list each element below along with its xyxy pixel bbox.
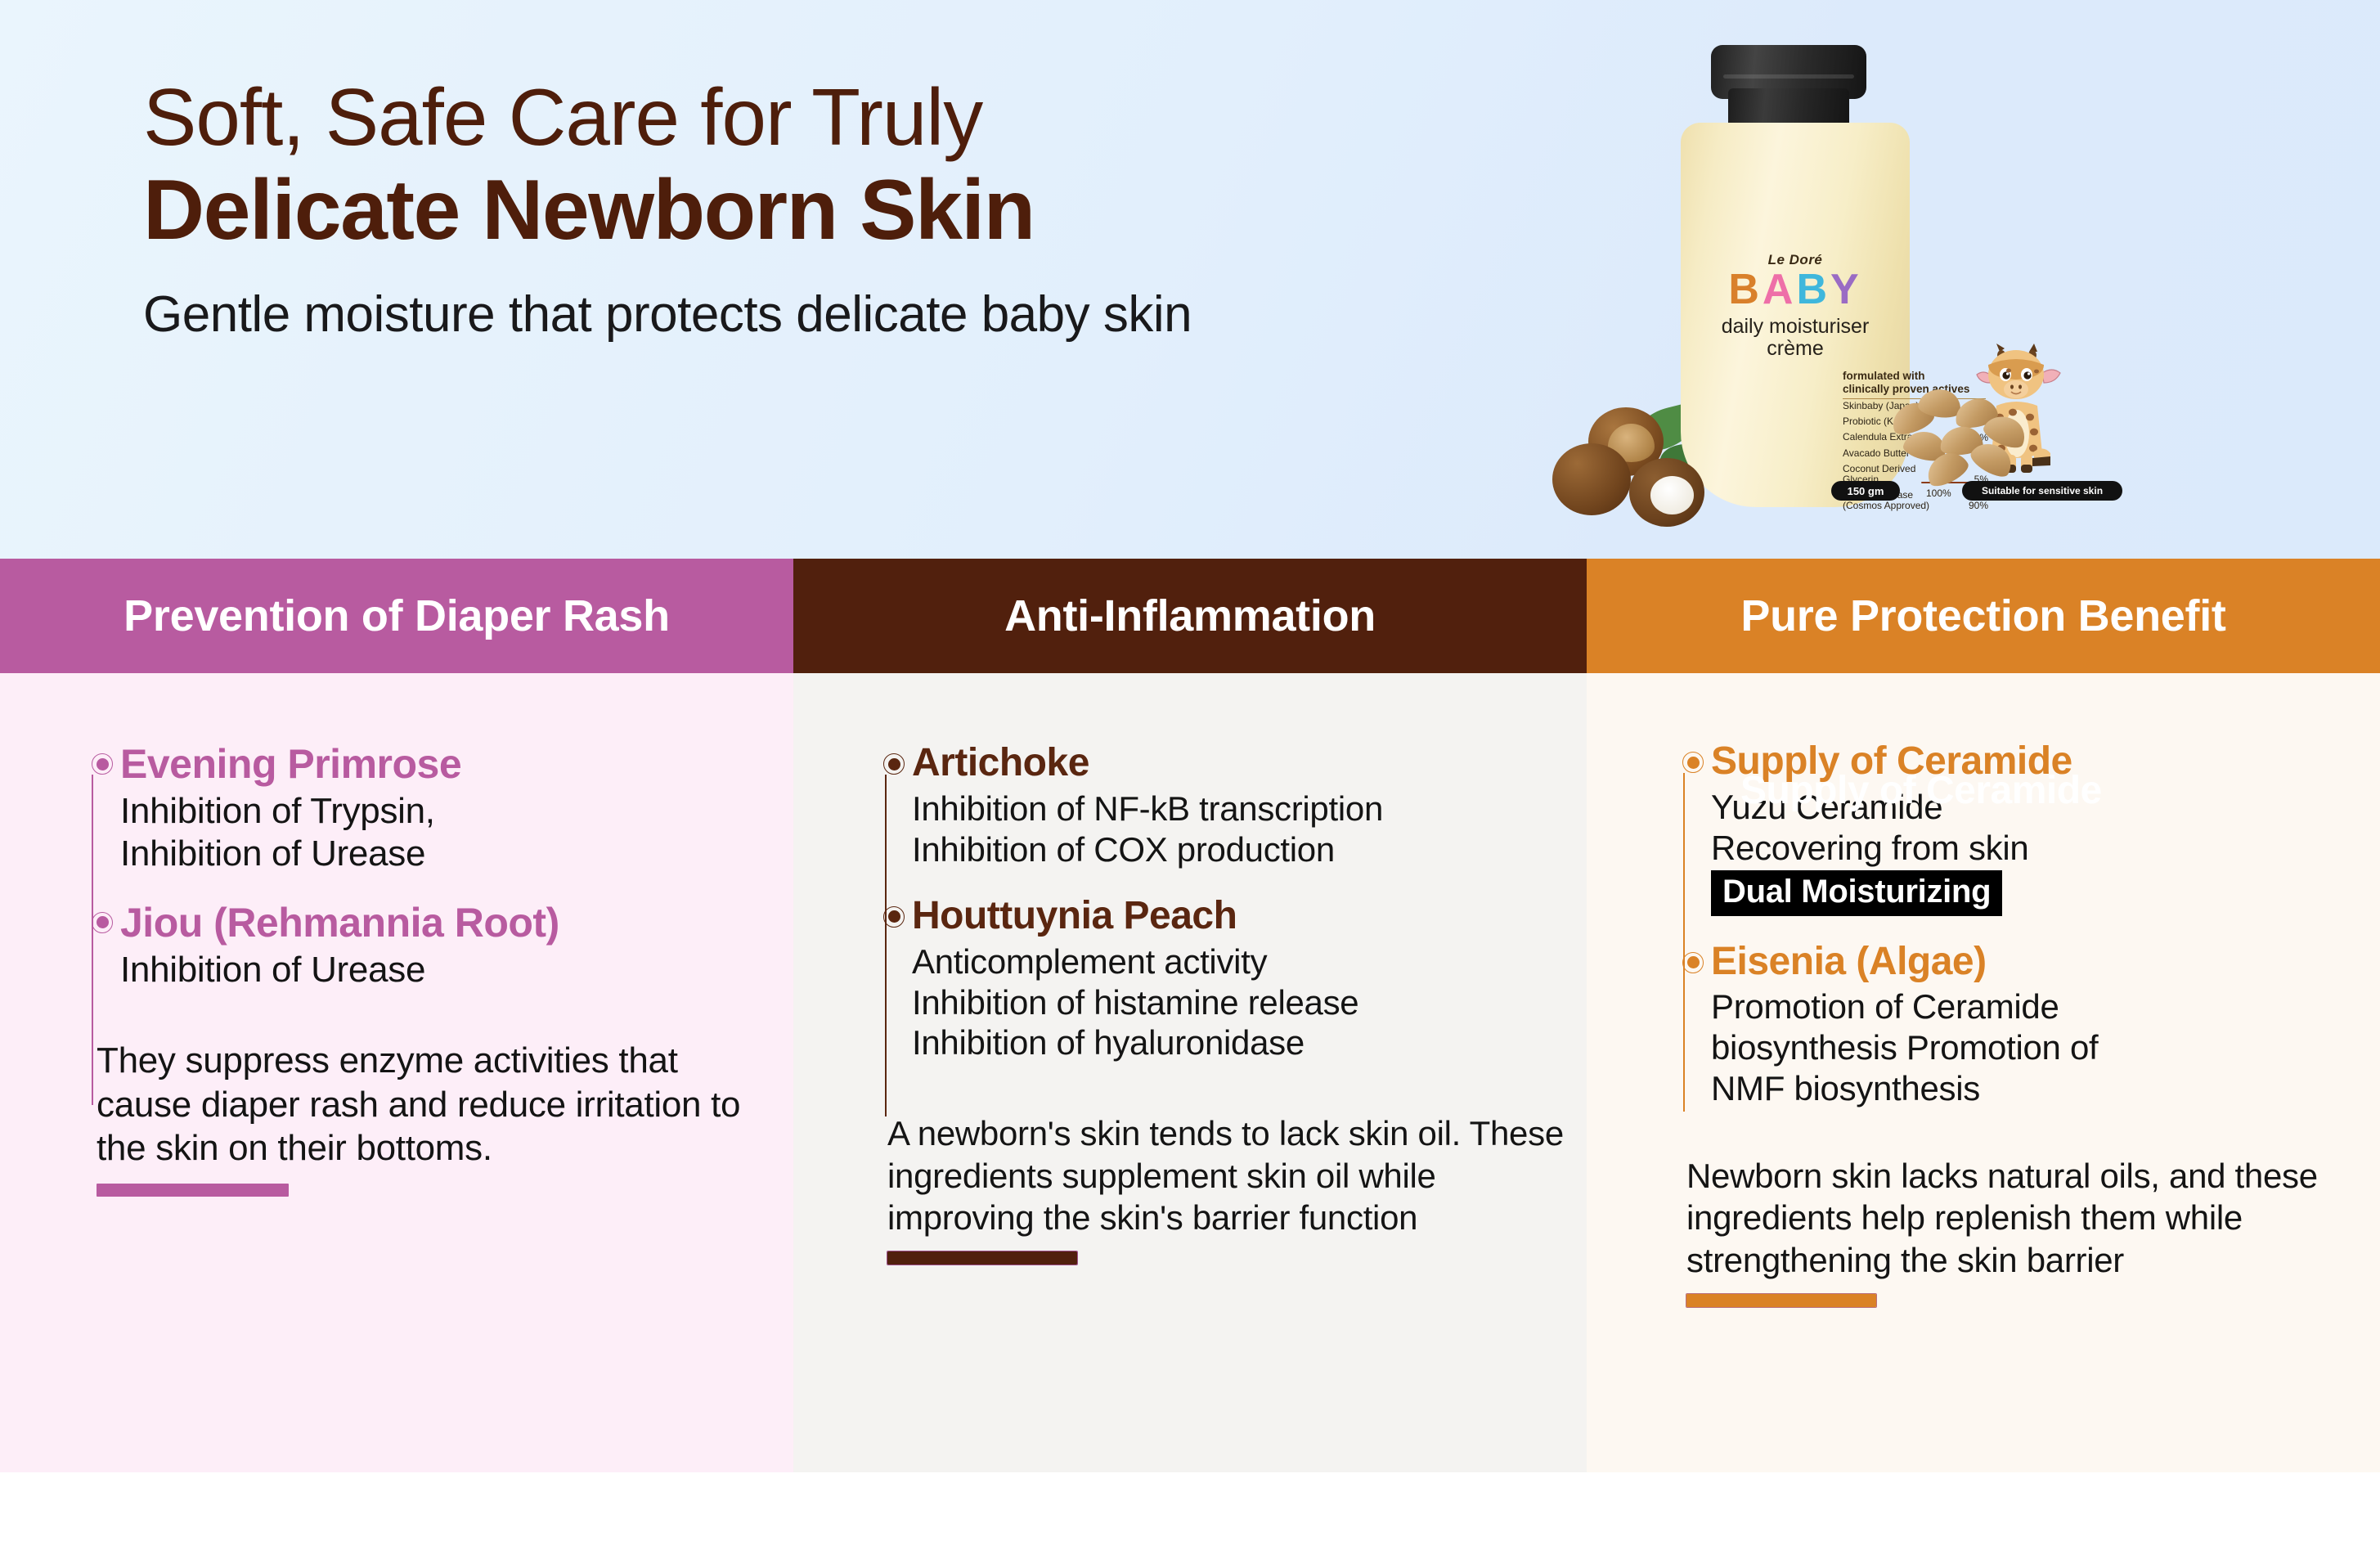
ingredient-entry-list: Evening Primrose Inhibition of Trypsin, … — [120, 742, 775, 991]
bullet-icon — [883, 906, 905, 928]
timeline-line — [92, 775, 93, 1105]
product-subtitle-line-2: crème — [1681, 338, 1910, 360]
ingredient-entry-title: Eisenia (Algae) — [1711, 941, 2365, 984]
bullet-icon — [1682, 952, 1704, 973]
ingredient-entry-details: Yuzu Ceramide Recovering from skin Dual … — [1711, 787, 2365, 916]
ingredient-entry-details: Anticomplement activity Inhibition of hi… — [912, 941, 1566, 1064]
hero-banner: Soft, Safe Care for Truly Delicate Newbo… — [0, 0, 2380, 559]
ingredient-entry-line: Inhibition of Trypsin, — [120, 790, 775, 833]
product-subtitle: daily moisturiser crème — [1681, 316, 1910, 360]
ingredient-entry-line: Inhibition of NF-kB transcription — [912, 788, 1566, 829]
ingredient-entry-title: Houttuynia Peach — [912, 895, 1566, 938]
column-summary-text: Newborn skin lacks natural oils, and the… — [1686, 1155, 2341, 1281]
bullet-icon — [883, 753, 905, 775]
bullet-icon — [1682, 752, 1704, 773]
timeline-line — [885, 775, 887, 1116]
ingredient-entry-line: Inhibition of histamine release — [912, 982, 1566, 1023]
shea-butter-nut-icon — [1629, 458, 1704, 527]
benefit-column-diaper-rash: Prevention of Diaper Rash Evening Primro… — [0, 559, 793, 1472]
column-summary-text: A newborn's skin tends to lack skin oil.… — [887, 1112, 1566, 1238]
baby-letter-b1: B — [1728, 268, 1763, 311]
column-header-pure-protection: Pure Protection Benefit — [1587, 559, 2380, 673]
column-summary-block: A newborn's skin tends to lack skin oil.… — [887, 1112, 1566, 1265]
baby-letter-b2: B — [1796, 268, 1830, 311]
ingredient-entry-details: Inhibition of NF-kB transcription Inhibi… — [912, 788, 1566, 870]
ingredient-entry-line: NMF biosynthesis — [1711, 1068, 2365, 1109]
column-body-pure-protection: Supply of Ceramide Supply of Ceramide Yu… — [1587, 740, 2380, 1539]
headline-line-1: Soft, Safe Care for Truly — [143, 75, 1484, 159]
bullet-icon — [92, 912, 113, 933]
column-header-diaper-rash: Prevention of Diaper Rash — [0, 559, 793, 673]
ingredient-entry-line: biosynthesis Promotion of — [1711, 1027, 2365, 1068]
ingredient-entry-line: Inhibition of hyaluronidase — [912, 1022, 1566, 1063]
hero-subheadline: Gentle moisture that protects delicate b… — [143, 284, 1370, 346]
baby-letter-y: Y — [1830, 268, 1862, 311]
summary-underline-bar — [97, 1184, 289, 1197]
benefit-column-pure-protection: Pure Protection Benefit Supply of Cerami… — [1587, 559, 2380, 1472]
baby-letter-a: A — [1763, 268, 1797, 311]
bottle-body: Le Doré BABY daily moisturiser crème for… — [1681, 123, 1910, 507]
ingredient-entry-title: Artichoke — [912, 742, 1566, 785]
dual-moisturizing-badge: Dual Moisturizing — [1711, 870, 2002, 916]
timeline-line — [1683, 773, 1685, 1112]
ingredient-entry: Eisenia (Algae) Promotion of Ceramide bi… — [1711, 941, 2365, 1110]
hero-text-block: Soft, Safe Care for Truly Delicate Newbo… — [143, 75, 1484, 346]
product-name-baby: BABY — [1681, 268, 1910, 311]
column-body-anti-inflammation: Artichoke Inhibition of NF-kB transcript… — [793, 742, 1587, 1541]
summary-underline-bar — [1686, 1294, 1876, 1307]
ingredient-entry-list: Artichoke Inhibition of NF-kB transcript… — [912, 742, 1566, 1063]
column-body-diaper-rash: Evening Primrose Inhibition of Trypsin, … — [0, 742, 793, 1541]
product-subtitle-line-1: daily moisturiser — [1681, 316, 1910, 338]
benefit-column-anti-inflammation: Anti-Inflammation Artichoke Inhibition o… — [793, 559, 1587, 1472]
ingredient-entry-line: Recovering from skin — [1711, 828, 2365, 869]
ingredient-entry-details: Inhibition of Trypsin, Inhibition of Ure… — [120, 790, 775, 876]
ingredient-entry-line: Inhibition of COX production — [912, 829, 1566, 870]
product-image: Le Doré BABY daily moisturiser crème for… — [1538, 25, 2045, 548]
summary-underline-bar — [887, 1251, 1077, 1265]
shea-nut-icon — [1552, 443, 1631, 515]
ingredient-entry-title: Jiou (Rehmannia Root) — [120, 901, 775, 946]
ingredient-entry: Jiou (Rehmannia Root) Inhibition of Urea… — [120, 901, 775, 991]
ingredients-heading-line-1: formulated with — [1843, 370, 1986, 383]
bullet-icon — [92, 753, 113, 775]
ingredient-entry-line: Inhibition of Urease — [120, 833, 775, 875]
ingredient-entry-details: Promotion of Ceramide biosynthesis Promo… — [1711, 986, 2365, 1109]
ingredient-percent: 90% — [1969, 501, 1988, 510]
column-summary-block: They suppress enzyme activities that cau… — [97, 1039, 743, 1197]
column-summary-text: They suppress enzyme activities that cau… — [97, 1039, 743, 1170]
ingredient-entry: Supply of Ceramide Supply of Ceramide Yu… — [1711, 740, 2365, 916]
ingredient-entry-line: Anticomplement activity — [912, 941, 1566, 982]
ingredient-entry: Evening Primrose Inhibition of Trypsin, … — [120, 742, 775, 876]
almonds-group-icon — [1886, 384, 2041, 491]
ingredient-entry-line: Promotion of Ceramide — [1711, 986, 2365, 1027]
ingredient-entry-title: Supply of Ceramide — [1711, 740, 2365, 784]
ingredient-entry-details: Inhibition of Urease — [120, 949, 775, 991]
ingredient-entry-list: Supply of Ceramide Supply of Ceramide Yu… — [1711, 740, 2365, 1109]
headline-line-2: Delicate Newborn Skin — [143, 163, 1484, 258]
benefit-columns: Prevention of Diaper Rash Evening Primro… — [0, 559, 2380, 1472]
ingredient-entry-title-wrap: Supply of Ceramide Supply of Ceramide — [1711, 740, 2365, 784]
ingredient-entry: Houttuynia Peach Anticomplement activity… — [912, 895, 1566, 1064]
column-summary-block: Newborn skin lacks natural oils, and the… — [1686, 1155, 2341, 1307]
ingredient-entry-title: Evening Primrose — [120, 742, 775, 787]
column-header-anti-inflammation: Anti-Inflammation — [793, 559, 1587, 673]
ingredient-entry: Artichoke Inhibition of NF-kB transcript… — [912, 742, 1566, 870]
ingredient-entry-line: Inhibition of Urease — [120, 949, 775, 991]
ingredient-entry-line: Yuzu Ceramide — [1711, 787, 2365, 828]
